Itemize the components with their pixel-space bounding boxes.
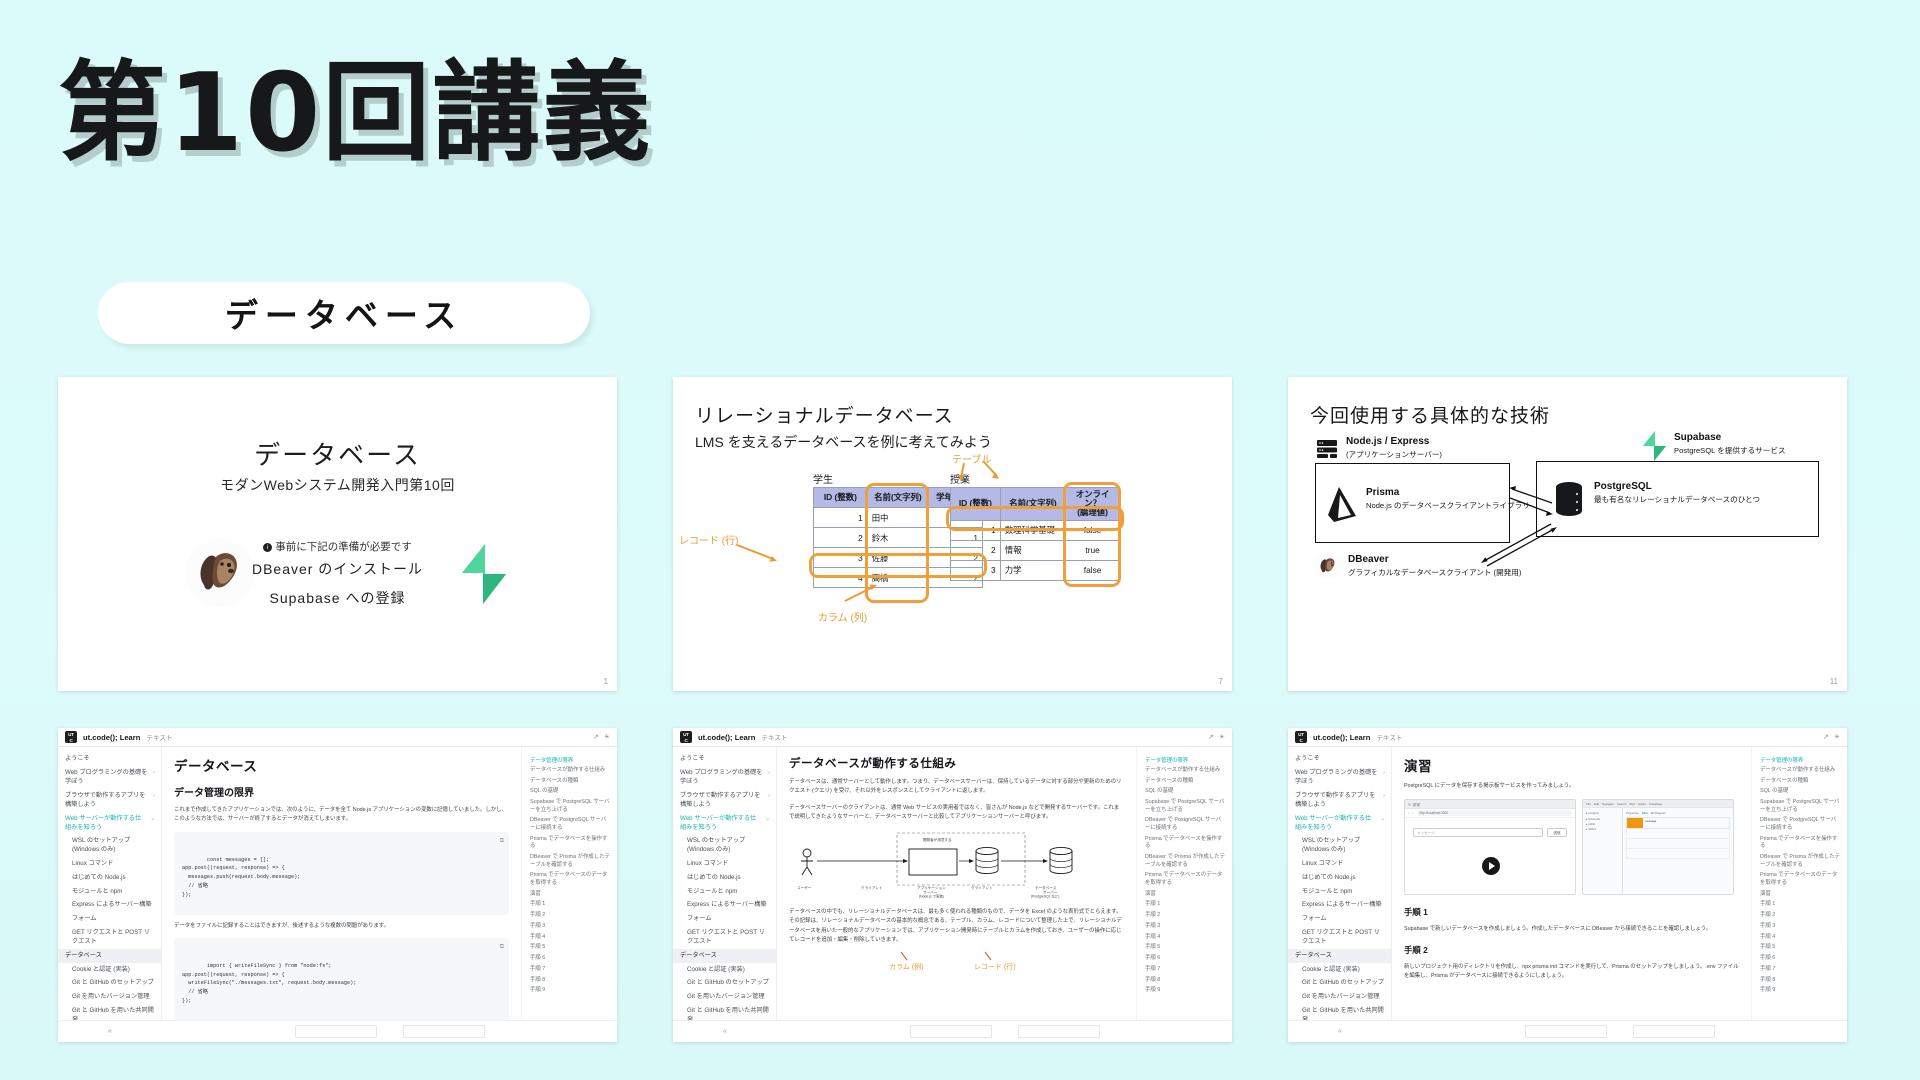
- toc-item[interactable]: 演習: [1760, 889, 1840, 900]
- pagination-next-card[interactable]: [1018, 1025, 1100, 1038]
- chevron-right-icon: ›: [153, 792, 155, 810]
- toc-item[interactable]: 手順 4: [1760, 932, 1840, 943]
- web-header: UTC ut.code(); Learn テキスト ↗ ☀: [1288, 728, 1847, 747]
- sidebar-item-web-basics[interactable]: Web プログラミングの基礎を学ぼう ›: [1295, 767, 1385, 790]
- sidebar-subitem-express[interactable]: Express によるサーバー構築: [65, 899, 155, 913]
- tech-postgresql-name: PostgreSQL: [1594, 481, 1652, 492]
- svg-text:クライアント: クライアント: [971, 885, 993, 890]
- toc-item[interactable]: Prisma でデータベースを操作する: [530, 834, 610, 852]
- sidebar-subitem-form[interactable]: フォーム: [1295, 913, 1385, 927]
- chevron-right-icon: ›: [1383, 769, 1385, 787]
- content-paragraph: データベースサーバーのクライアントは、通常 Web サービスの実用者ではなく、皆…: [789, 804, 1124, 823]
- web-page-card-exercise[interactable]: UTC ut.code(); Learn テキスト ↗ ☀ ようこそ Web プ…: [1288, 728, 1847, 1042]
- toc-item[interactable]: 手順 5: [1760, 943, 1840, 954]
- toc-item[interactable]: 手順 2: [1760, 911, 1840, 922]
- toc-item[interactable]: 手順 5: [530, 943, 610, 954]
- cell: 力学: [1000, 560, 1066, 580]
- table-row: 2 情報 true: [951, 540, 1120, 560]
- annotation-table: テーブル: [952, 451, 991, 466]
- tab-er-diagram[interactable]: ER Diagram: [1651, 811, 1666, 815]
- toc-item[interactable]: 手順 8: [1760, 975, 1840, 986]
- classes-table: ID (整数) 名前(文字列) オンライン？ (論理値) 1 数理科学基礎 fa…: [950, 487, 1120, 581]
- toc-item[interactable]: SQL の基礎: [1145, 787, 1225, 798]
- students-th-name: 名前(文字列): [867, 488, 929, 508]
- toc-item[interactable]: Supabase で PostgreSQL サーバーを立ち上げる: [1760, 797, 1840, 815]
- code-text: import { writeFileSync } from "node:fs";…: [182, 963, 356, 1004]
- pagination-next-card[interactable]: [403, 1025, 485, 1038]
- content-paragraph: これまで作成してきたアプリケーションでは、次のように、データを全て Node.j…: [174, 806, 509, 825]
- toc-item[interactable]: 手順 1: [1760, 900, 1840, 911]
- prev-page-button[interactable]: «: [673, 1028, 777, 1035]
- toc-item[interactable]: 手順 7: [1145, 964, 1225, 975]
- info-icon: i: [263, 543, 272, 552]
- content-heading: 演習: [1404, 755, 1739, 775]
- topic-pill: データベース: [98, 282, 590, 344]
- cell: 鈴木: [867, 528, 929, 548]
- web-header: UTC ut.code(); Learn テキスト ↗ ☀: [58, 728, 617, 747]
- slide2-subtitle: LMS を支えるデータベースを例に考えてみよう: [695, 432, 992, 452]
- slide-card-technologies[interactable]: 今回使用する具体的な技術 Node.js / Express (アプリケーション…: [1288, 377, 1847, 691]
- label: Web サーバーが動作する仕組みを知ろう: [680, 815, 762, 833]
- brand-name: ut.code(); Learn: [83, 733, 140, 742]
- copy-icon[interactable]: ⧉: [500, 836, 504, 846]
- brand-name: ut.code(); Learn: [698, 733, 755, 742]
- utcode-logo-icon: UTC: [65, 731, 77, 743]
- sidebar-subitem-npm[interactable]: モジュールと npm: [65, 885, 155, 899]
- main-content: データベース データ管理の限界 これまで作成してきたアプリケーションでは、次のよ…: [162, 747, 521, 1020]
- nav-link-text[interactable]: テキスト: [761, 732, 787, 742]
- sun-icon[interactable]: ☀: [1834, 733, 1840, 741]
- sidebar-item-welcome[interactable]: ようこそ: [680, 753, 770, 767]
- chevron-right-icon: ›: [768, 769, 770, 787]
- sidebar-subitem-form[interactable]: フォーム: [680, 913, 770, 927]
- label: Web プログラミングの基礎を学ぼう: [680, 769, 765, 787]
- toc-item[interactable]: Prisma でデータベースを操作する: [1145, 834, 1225, 852]
- cell: true: [1066, 540, 1120, 560]
- sidebar-item-browser-apps[interactable]: ブラウザで動作するアプリを構築しよう ›: [1295, 790, 1385, 813]
- chevron-right-icon: ›: [1383, 792, 1385, 810]
- supabase-logo-icon: [454, 543, 512, 610]
- sidebar-subitem-node[interactable]: はじめての Node.js: [1295, 872, 1385, 886]
- toc-item[interactable]: Prisma でデータベースのデータを取得する: [1145, 871, 1225, 889]
- toc-item[interactable]: 手順 9: [1760, 986, 1840, 997]
- play-circle-icon[interactable]: [1481, 856, 1501, 881]
- toc-item[interactable]: SQL の基礎: [530, 787, 610, 798]
- toc-item[interactable]: DBeaver で PostgreSQL サーバーに接続する: [1760, 816, 1840, 834]
- table-row: 3 力学 false: [951, 560, 1120, 580]
- prev-page-button[interactable]: «: [1288, 1028, 1392, 1035]
- toc-item[interactable]: 手順 6: [1760, 954, 1840, 965]
- chevron-down-icon: ⌄: [765, 815, 770, 833]
- toc-item[interactable]: 手順 4: [530, 932, 610, 943]
- sidebar-subitem-linux[interactable]: Linux コマンド: [1295, 858, 1385, 872]
- tech-supabase-desc: PostgreSQL を提供するサービス: [1674, 445, 1786, 456]
- annotation-column: カラム (列): [818, 609, 867, 624]
- tech-prisma-name: Prisma: [1366, 487, 1399, 498]
- nav-link-text[interactable]: テキスト: [146, 732, 172, 742]
- forward-icon[interactable]: ›: [1412, 811, 1413, 815]
- sidebar-subitem-linux[interactable]: Linux コマンド: [65, 858, 155, 872]
- toc-item[interactable]: SQL の基礎: [1760, 787, 1840, 798]
- sidebar-item-welcome[interactable]: ようこそ: [65, 753, 155, 767]
- toc-item[interactable]: 手順 5: [1145, 943, 1225, 954]
- annotation-record: レコード (行): [679, 532, 738, 547]
- sidebar-subitem-wsl[interactable]: WSL のセットアップ (Windows のみ): [1295, 835, 1385, 858]
- sidebar-subitem-database[interactable]: データベース: [58, 949, 161, 963]
- sidebar-subitem-linux[interactable]: Linux コマンド: [680, 858, 770, 872]
- slide2-title: リレーショナルデータベース: [695, 401, 954, 428]
- toc-item[interactable]: 手順 9: [530, 986, 610, 997]
- toc-item[interactable]: 手順 9: [1145, 986, 1225, 997]
- toc-item[interactable]: 手順 8: [530, 975, 610, 986]
- back-icon[interactable]: ‹: [1408, 811, 1409, 815]
- toc-item[interactable]: 手順 6: [1145, 954, 1225, 965]
- sidebar-subitem-express[interactable]: Express によるサーバー構築: [1295, 899, 1385, 913]
- cell: 3: [814, 548, 868, 568]
- web-footer: «: [1288, 1020, 1847, 1042]
- code-block: ⧉ import { writeFileSync } from "node:fs…: [174, 938, 509, 1020]
- page-title: 第10回講義: [58, 52, 652, 176]
- toc-item[interactable]: データベースが動作する仕組み: [1760, 765, 1840, 776]
- toc-item[interactable]: DBeaver で PostgreSQL サーバーに接続する: [1145, 816, 1225, 834]
- slide3-title: 今回使用する具体的な技術: [1310, 401, 1550, 428]
- sidebar-subitem-cookie[interactable]: Cookie と認証 (実装): [65, 963, 155, 977]
- cell: 2: [814, 528, 868, 548]
- toc-item[interactable]: 演習: [1145, 889, 1225, 900]
- cell: 1: [814, 508, 868, 528]
- database-architecture-diagram: ユーザー クライアント アプリケーション サーバー クライアント データベース …: [789, 831, 1124, 901]
- slide1-prep-item-2: Supabase への登録: [58, 588, 617, 608]
- content-paragraph: データベースの中でも、リレーショナルデータベースは、最も多く使われる種類のもので…: [789, 908, 1124, 946]
- main-content: データベースが動作する仕組み データベースは、通常サーバーとして動作します。つま…: [777, 747, 1136, 1020]
- toc-heading[interactable]: データ管理の限界: [530, 754, 610, 765]
- web-page-card-how-db-works[interactable]: UTC ut.code(); Learn テキスト ↗ ☀ ようこそ Web プ…: [673, 728, 1232, 1042]
- pagination-prev-card[interactable]: [1525, 1025, 1607, 1038]
- toc-item[interactable]: Supabase で PostgreSQL サーバーを立ち上げる: [530, 797, 610, 815]
- students-th-id: ID (整数): [814, 488, 868, 508]
- toc-item[interactable]: DBeaver で Prisma が作成したテーブルを確認する: [1760, 852, 1840, 870]
- tech-supabase-name: Supabase: [1674, 432, 1721, 443]
- sidebar-item-welcome[interactable]: ようこそ: [1295, 753, 1385, 767]
- toc-item[interactable]: 演習: [530, 889, 610, 900]
- tech-node-desc: (アプリケーションサーバー): [1346, 449, 1442, 460]
- step-heading: 手順 1: [1404, 906, 1739, 918]
- slide-card-title[interactable]: データベース モダンWebシステム開発入門第10回 i事前に下記の準備が必要です…: [58, 377, 617, 691]
- sidebar-subitem-git-version[interactable]: Git を用いたバージョン管理: [680, 991, 770, 1005]
- screenshot-mock: 新規 ‹ › http://localhost:3000 メッセージ 送信: [1404, 799, 1739, 897]
- web-footer: «: [58, 1020, 617, 1042]
- utcode-logo-icon: UTC: [1295, 731, 1307, 743]
- cell: 数理科学基礎: [1000, 520, 1066, 540]
- step-text: 新しいプロジェクト用のディレクトリを作成し、npx prisma init コマ…: [1404, 963, 1739, 982]
- dbeaver-beaver-icon: [1315, 553, 1341, 579]
- toc-item[interactable]: 手順 4: [1145, 932, 1225, 943]
- sidebar-subitem-git-setup[interactable]: Git と GitHub のセットアップ: [680, 977, 770, 991]
- toc-item[interactable]: 手順 3: [1145, 921, 1225, 932]
- sidebar-item-browser-apps[interactable]: ブラウザで動作するアプリを構築しよう ›: [680, 790, 770, 813]
- postgresql-db-icon: [1554, 481, 1584, 522]
- label: Web プログラミングの基礎を学ぼう: [65, 769, 150, 787]
- cell: false: [1066, 560, 1120, 580]
- slide2-number: 7: [1219, 677, 1223, 686]
- svg-text:開発者が用意する: 開発者が用意する: [923, 837, 952, 842]
- cell: 情報: [1000, 540, 1066, 560]
- toc-item[interactable]: DBeaver で PostgreSQL サーバーに接続する: [530, 816, 610, 834]
- sidebar-subitem-form[interactable]: フォーム: [65, 913, 155, 927]
- chevron-right-icon: ›: [153, 769, 155, 787]
- external-link-icon[interactable]: ↗: [1208, 733, 1214, 741]
- cell: 2: [951, 540, 1001, 560]
- svg-text:アプリケーション: アプリケーション: [917, 885, 946, 890]
- sidebar-subitem-git-collab[interactable]: Git と GitHub を用いた共同開発: [65, 1004, 155, 1020]
- slide3-number: 11: [1830, 677, 1838, 686]
- nav-link-text[interactable]: テキスト: [1376, 732, 1402, 742]
- classes-table-caption: 授業: [950, 471, 970, 486]
- sidebar-subitem-cookie[interactable]: Cookie と認証 (実装): [1295, 963, 1385, 977]
- toc-item[interactable]: 手順 8: [1145, 975, 1225, 986]
- classes-th-name: 名前(文字列): [1000, 488, 1066, 521]
- toc-item[interactable]: 手順 2: [1145, 911, 1225, 922]
- tech-dbeaver-name: DBeaver: [1348, 554, 1389, 565]
- cell: 4: [814, 568, 868, 588]
- toc-item[interactable]: 手順 1: [1145, 900, 1225, 911]
- toc-item[interactable]: Prisma でデータベースのデータを取得する: [530, 871, 610, 889]
- sidebar-subitem-npm[interactable]: モジュールと npm: [1295, 885, 1385, 899]
- sidebar-subitem-database[interactable]: データベース: [673, 949, 776, 963]
- web-footer: «: [673, 1020, 1232, 1042]
- sidebar-subitem-get-post[interactable]: GET リクエストと POST リクエスト: [1295, 927, 1385, 950]
- sidebar-subitem-node[interactable]: はじめての Node.js: [65, 872, 155, 886]
- table-of-contents[interactable]: データ管理の限界 データベースが動作する仕組み データベースの種類 SQL の基…: [521, 747, 617, 1020]
- svg-text:クライアント: クライアント: [861, 885, 883, 890]
- content-heading: データベース: [174, 755, 509, 775]
- message-input[interactable]: メッセージ: [1413, 828, 1543, 837]
- cell: false: [1066, 520, 1120, 540]
- cell: 1: [951, 520, 1001, 540]
- label: ブラウザで動作するアプリを構築しよう: [1295, 792, 1380, 810]
- slide1-prep-item-1: DBeaver のインストール: [58, 559, 617, 579]
- label: ブラウザで動作するアプリを構築しよう: [680, 792, 765, 810]
- slide1-number: 1: [604, 677, 608, 686]
- pagination-prev-card[interactable]: [910, 1025, 992, 1038]
- send-button[interactable]: 送信: [1547, 828, 1567, 837]
- toc-item[interactable]: データベースが動作する仕組み: [530, 765, 610, 776]
- toc-heading[interactable]: データ管理の限界: [1145, 754, 1225, 765]
- content-paragraph: データベースは、通常サーバーとして動作します。つまり、データベースサーバーは、保…: [789, 778, 1124, 797]
- content-paragraph: PostgreSQL にデータを保存する掲示板サービスを作ってみましょう。: [1404, 782, 1739, 791]
- sidebar-subitem-get-post[interactable]: GET リクエストと POST リクエスト: [65, 927, 155, 950]
- sidebar[interactable]: ようこそ Web プログラミングの基礎を学ぼう › ブラウザで動作するアプリを構…: [1288, 747, 1392, 1020]
- slide1-title: データベース: [58, 435, 617, 472]
- sidebar-item-web-server[interactable]: Web サーバーが動作する仕組みを知ろう ⌄: [1295, 812, 1385, 835]
- sidebar-subitem-git-collab[interactable]: Git と GitHub を用いた共同開発: [1295, 1004, 1385, 1020]
- prisma-logo-icon: [1326, 485, 1358, 530]
- label: ようこそ: [65, 755, 90, 764]
- sidebar-item-web-basics[interactable]: Web プログラミングの基礎を学ぼう ›: [65, 767, 155, 790]
- web-page-card-database[interactable]: UTC ut.code(); Learn テキスト ↗ ☀ ようこそ Web プ…: [58, 728, 617, 1042]
- sidebar-subitem-git-version[interactable]: Git を用いたバージョン管理: [65, 991, 155, 1005]
- sun-icon[interactable]: ☀: [604, 733, 610, 741]
- toc-item[interactable]: 手順 2: [530, 911, 610, 922]
- content-subheading: データ管理の限界: [174, 784, 509, 799]
- brand-name: ut.code(); Learn: [1313, 733, 1370, 742]
- toc-item[interactable]: 手順 3: [530, 921, 610, 932]
- tab-data[interactable]: Data: [1642, 811, 1648, 815]
- tab-properties[interactable]: Properties: [1626, 811, 1639, 815]
- utcode-logo-icon: UTC: [680, 731, 692, 743]
- tech-prisma-desc: Node.js のデータベースクライアントライブラリ: [1366, 500, 1530, 511]
- chevron-right-icon: ›: [768, 792, 770, 810]
- slide1-prep-note: i事前に下記の準備が必要です: [58, 539, 617, 554]
- grid-column-header: message: [1643, 818, 1729, 828]
- sun-icon[interactable]: ☀: [1219, 733, 1225, 741]
- svg-text:(Node.js で実装): (Node.js で実装): [919, 893, 944, 898]
- copy-icon[interactable]: ⧉: [500, 942, 504, 952]
- sidebar-subitem-cookie[interactable]: Cookie と認証 (実装): [680, 963, 770, 977]
- cell: 田中: [867, 508, 929, 528]
- chevron-down-icon: ⌄: [1380, 815, 1385, 833]
- tech-node-name: Node.js / Express: [1346, 436, 1429, 447]
- sidebar-subitem-git-setup[interactable]: Git と GitHub のセットアップ: [1295, 977, 1385, 991]
- label: Web プログラミングの基礎を学ぼう: [1295, 769, 1380, 787]
- toc-item[interactable]: 手順 1: [530, 900, 610, 911]
- table-of-contents[interactable]: データ管理の限界 データベースが動作する仕組み データベースの種類 SQL の基…: [1751, 747, 1847, 1020]
- label: ブラウザで動作するアプリを構築しよう: [65, 792, 150, 810]
- slide-card-relational-db[interactable]: リレーショナルデータベース LMS を支えるデータベースを例に考えてみよう 学生…: [673, 377, 1232, 691]
- server-rack-icon: [1316, 439, 1338, 464]
- students-table-caption: 学生: [813, 471, 833, 486]
- sidebar[interactable]: ようこそ Web プログラミングの基礎を学ぼう › ブラウザで動作するアプリを構…: [58, 747, 162, 1020]
- pagination-next-card[interactable]: [1633, 1025, 1715, 1038]
- content-heading: データベースが動作する仕組み: [789, 755, 1124, 771]
- toc-item[interactable]: 手順 6: [530, 954, 610, 965]
- toc-item[interactable]: Prisma でデータベースを操作する: [1760, 834, 1840, 852]
- step-text: Supabase で新しいデータベースを作成しましょう。作成したデータベースに …: [1404, 925, 1739, 934]
- label: ようこそ: [1295, 755, 1320, 764]
- sidebar-subitem-git-setup[interactable]: Git と GitHub のセットアップ: [65, 977, 155, 991]
- chevron-down-icon: ⌄: [150, 815, 155, 833]
- step-heading: 手順 2: [1404, 944, 1739, 956]
- svg-text:データベース: データベース: [1035, 885, 1057, 890]
- sidebar-subitem-node[interactable]: はじめての Node.js: [680, 872, 770, 886]
- cell: 高橋: [867, 568, 929, 588]
- cell: 佐藤: [867, 548, 929, 568]
- main-content: 演習 PostgreSQL にデータを保存する掲示板サービスを作ってみましょう。…: [1392, 747, 1751, 1020]
- toc-item[interactable]: DBeaver で Prisma が作成したテーブルを確認する: [1145, 852, 1225, 870]
- sidebar-subitem-wsl[interactable]: WSL のセットアップ (Windows のみ): [65, 835, 155, 858]
- sidebar-item-browser-apps[interactable]: ブラウザで動作するアプリを構築しよう ›: [65, 790, 155, 813]
- toc-item[interactable]: データベースの種類: [530, 776, 610, 787]
- sidebar-subitem-git-version[interactable]: Git を用いたバージョン管理: [1295, 991, 1385, 1005]
- sidebar-item-web-server[interactable]: Web サーバーが動作する仕組みを知ろう ⌄: [680, 812, 770, 835]
- sidebar-subitem-git-collab[interactable]: Git と GitHub を用いた共同開発: [680, 1004, 770, 1020]
- classes-th-id: ID (整数): [951, 488, 1001, 521]
- cell: 3: [951, 560, 1001, 580]
- tech-postgresql-desc: 最も有名なリレーショナルデータベースのひとつ: [1594, 494, 1760, 505]
- toc-item[interactable]: データベースの種類: [1145, 776, 1225, 787]
- lecture-overview-page: 第10回講義 データベース データベース モダンWebシステム開発入門第10回 …: [0, 0, 1920, 1080]
- toc-heading[interactable]: データ管理の限界: [1760, 754, 1840, 765]
- label: Web サーバーが動作する仕組みを知ろう: [65, 815, 147, 833]
- toc-item[interactable]: Prisma でデータベースのデータを取得する: [1760, 871, 1840, 889]
- annotation-arrows: [789, 950, 1119, 978]
- prev-page-button[interactable]: «: [58, 1028, 162, 1035]
- label: Web サーバーが動作する仕組みを知ろう: [1295, 815, 1377, 833]
- external-link-icon[interactable]: ↗: [593, 733, 599, 741]
- pagination-prev-card[interactable]: [295, 1025, 377, 1038]
- toc-item[interactable]: 手順 7: [1760, 964, 1840, 975]
- sidebar-subitem-database[interactable]: データベース: [1288, 949, 1391, 963]
- sidebar[interactable]: ようこそ Web プログラミングの基礎を学ぼう › ブラウザで動作するアプリを構…: [673, 747, 777, 1020]
- classes-th-online: オンライン？ (論理値): [1066, 488, 1120, 521]
- toc-item[interactable]: 手順 7: [530, 964, 610, 975]
- sidebar-subitem-wsl[interactable]: WSL のセットアップ (Windows のみ): [680, 835, 770, 858]
- tech-dbeaver-desc: グラフィカルなデータベースクライアント (開発用): [1348, 567, 1521, 578]
- toc-item[interactable]: データベースの種類: [1760, 776, 1840, 787]
- toc-item[interactable]: DBeaver で Prisma が作成したテーブルを確認する: [530, 852, 610, 870]
- code-block: ⧉ const messages = []; app.post((request…: [174, 832, 509, 915]
- table-row: 1 数理科学基礎 false: [951, 520, 1120, 540]
- svg-text:ユーザー: ユーザー: [797, 885, 812, 890]
- sidebar-subitem-express[interactable]: Express によるサーバー構築: [680, 899, 770, 913]
- svg-text:(PostgreSQL など): (PostgreSQL など): [1031, 893, 1059, 898]
- table-of-contents[interactable]: データ管理の限界 データベースが動作する仕組み データベースの種類 SQL の基…: [1136, 747, 1232, 1020]
- url-bar[interactable]: http://localhost:3000: [1417, 810, 1572, 816]
- toc-item[interactable]: 手順 3: [1760, 921, 1840, 932]
- sidebar-item-web-server[interactable]: Web サーバーが動作する仕組みを知ろう ⌄: [65, 812, 155, 835]
- web-header: UTC ut.code(); Learn テキスト ↗ ☀: [673, 728, 1232, 747]
- toc-item[interactable]: データベースが動作する仕組み: [1145, 765, 1225, 776]
- code-text: const messages = []; app.post((request, …: [182, 857, 300, 898]
- content-paragraph: データをファイルに記録することはできますが、後述するような複数の問題があります。: [174, 922, 509, 931]
- sidebar-item-web-basics[interactable]: Web プログラミングの基礎を学ぼう ›: [680, 767, 770, 790]
- external-link-icon[interactable]: ↗: [1823, 733, 1829, 741]
- toc-item[interactable]: Supabase で PostgreSQL サーバーを立ち上げる: [1145, 797, 1225, 815]
- label: ようこそ: [680, 755, 705, 764]
- sidebar-subitem-npm[interactable]: モジュールと npm: [680, 885, 770, 899]
- slide1-subtitle: モダンWebシステム開発入門第10回: [58, 475, 617, 495]
- topic-pill-label: データベース: [225, 289, 463, 337]
- sidebar-subitem-get-post[interactable]: GET リクエストと POST リクエスト: [680, 927, 770, 950]
